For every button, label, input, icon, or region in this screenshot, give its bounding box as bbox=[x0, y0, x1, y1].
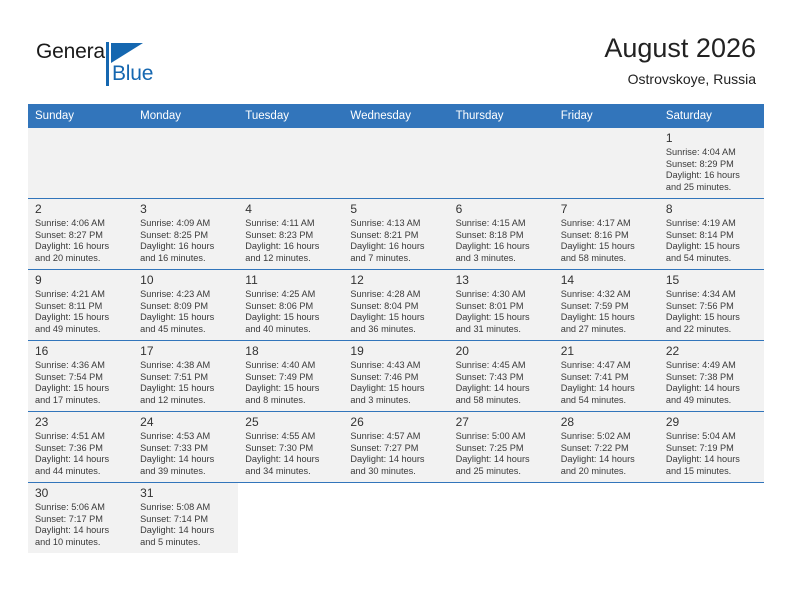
daylight-text-line1: Daylight: 15 hours bbox=[140, 383, 232, 395]
calendar-day-cell[interactable]: 30Sunrise: 5:06 AMSunset: 7:17 PMDayligh… bbox=[28, 483, 133, 554]
calendar-week-row: 30Sunrise: 5:06 AMSunset: 7:17 PMDayligh… bbox=[28, 483, 764, 554]
calendar-day-cell[interactable]: 3Sunrise: 4:09 AMSunset: 8:25 PMDaylight… bbox=[133, 199, 238, 270]
daylight-text-line2: and 10 minutes. bbox=[35, 537, 127, 549]
day-cell-inner: 10Sunrise: 4:23 AMSunset: 8:09 PMDayligh… bbox=[133, 270, 238, 340]
calendar-cell-empty bbox=[449, 483, 554, 554]
day-number: 19 bbox=[350, 344, 442, 359]
calendar-day-cell[interactable]: 18Sunrise: 4:40 AMSunset: 7:49 PMDayligh… bbox=[238, 341, 343, 412]
daylight-text-line1: Daylight: 15 hours bbox=[561, 312, 653, 324]
sunrise-text: Sunrise: 4:32 AM bbox=[561, 289, 653, 301]
page-title: August 2026 bbox=[336, 32, 756, 64]
daylight-text-line2: and 20 minutes. bbox=[35, 253, 127, 265]
sunrise-text: Sunrise: 4:17 AM bbox=[561, 218, 653, 230]
sunrise-text: Sunrise: 4:43 AM bbox=[350, 360, 442, 372]
day-number: 15 bbox=[666, 273, 758, 288]
sunset-text: Sunset: 7:33 PM bbox=[140, 443, 232, 455]
sunset-text: Sunset: 8:14 PM bbox=[666, 230, 758, 242]
calendar-week-row: 2Sunrise: 4:06 AMSunset: 8:27 PMDaylight… bbox=[28, 199, 764, 270]
weekday-header-tuesday: Tuesday bbox=[238, 104, 343, 128]
day-cell-inner: 26Sunrise: 4:57 AMSunset: 7:27 PMDayligh… bbox=[343, 412, 448, 482]
sunset-text: Sunset: 7:17 PM bbox=[35, 514, 127, 526]
calendar-cell-empty bbox=[133, 128, 238, 199]
day-number: 3 bbox=[140, 202, 232, 217]
daylight-text-line2: and 54 minutes. bbox=[561, 395, 653, 407]
calendar-cell-empty bbox=[659, 483, 764, 554]
day-cell-inner bbox=[449, 128, 554, 198]
day-cell-inner: 9Sunrise: 4:21 AMSunset: 8:11 PMDaylight… bbox=[28, 270, 133, 340]
day-number: 20 bbox=[456, 344, 548, 359]
calendar-cell-empty bbox=[343, 128, 448, 199]
daylight-text-line1: Daylight: 14 hours bbox=[35, 525, 127, 537]
daylight-text-line1: Daylight: 14 hours bbox=[35, 454, 127, 466]
sunrise-text: Sunrise: 4:11 AM bbox=[245, 218, 337, 230]
day-number: 8 bbox=[666, 202, 758, 217]
sunset-text: Sunset: 7:38 PM bbox=[666, 372, 758, 384]
sunset-text: Sunset: 7:19 PM bbox=[666, 443, 758, 455]
calendar-day-cell[interactable]: 28Sunrise: 5:02 AMSunset: 7:22 PMDayligh… bbox=[554, 412, 659, 483]
day-cell-inner: 15Sunrise: 4:34 AMSunset: 7:56 PMDayligh… bbox=[659, 270, 764, 340]
daylight-text-line2: and 39 minutes. bbox=[140, 466, 232, 478]
sunset-text: Sunset: 7:49 PM bbox=[245, 372, 337, 384]
calendar-week-row: 9Sunrise: 4:21 AMSunset: 8:11 PMDaylight… bbox=[28, 270, 764, 341]
day-cell-inner: 23Sunrise: 4:51 AMSunset: 7:36 PMDayligh… bbox=[28, 412, 133, 482]
sunrise-text: Sunrise: 5:04 AM bbox=[666, 431, 758, 443]
daylight-text-line1: Daylight: 15 hours bbox=[35, 383, 127, 395]
day-number: 24 bbox=[140, 415, 232, 430]
day-cell-inner: 17Sunrise: 4:38 AMSunset: 7:51 PMDayligh… bbox=[133, 341, 238, 411]
day-cell-inner bbox=[28, 128, 133, 198]
day-cell-inner: 30Sunrise: 5:06 AMSunset: 7:17 PMDayligh… bbox=[28, 483, 133, 553]
sunset-text: Sunset: 8:01 PM bbox=[456, 301, 548, 313]
daylight-text-line2: and 34 minutes. bbox=[245, 466, 337, 478]
day-cell-inner: 14Sunrise: 4:32 AMSunset: 7:59 PMDayligh… bbox=[554, 270, 659, 340]
calendar-week-row: 1Sunrise: 4:04 AMSunset: 8:29 PMDaylight… bbox=[28, 128, 764, 199]
sunrise-text: Sunrise: 5:06 AM bbox=[35, 502, 127, 514]
daylight-text-line1: Daylight: 14 hours bbox=[456, 383, 548, 395]
day-cell-inner: 4Sunrise: 4:11 AMSunset: 8:23 PMDaylight… bbox=[238, 199, 343, 269]
daylight-text-line2: and 8 minutes. bbox=[245, 395, 337, 407]
day-cell-inner: 6Sunrise: 4:15 AMSunset: 8:18 PMDaylight… bbox=[449, 199, 554, 269]
daylight-text-line1: Daylight: 14 hours bbox=[245, 454, 337, 466]
calendar-week-row: 23Sunrise: 4:51 AMSunset: 7:36 PMDayligh… bbox=[28, 412, 764, 483]
weekday-header-sunday: Sunday bbox=[28, 104, 133, 128]
daylight-text-line2: and 3 minutes. bbox=[456, 253, 548, 265]
sunrise-text: Sunrise: 4:34 AM bbox=[666, 289, 758, 301]
day-cell-inner: 18Sunrise: 4:40 AMSunset: 7:49 PMDayligh… bbox=[238, 341, 343, 411]
daylight-text-line2: and 44 minutes. bbox=[35, 466, 127, 478]
calendar-day-cell[interactable]: 23Sunrise: 4:51 AMSunset: 7:36 PMDayligh… bbox=[28, 412, 133, 483]
daylight-text-line2: and 58 minutes. bbox=[456, 395, 548, 407]
day-cell-inner bbox=[554, 128, 659, 198]
sunset-text: Sunset: 7:36 PM bbox=[35, 443, 127, 455]
daylight-text-line2: and 12 minutes. bbox=[245, 253, 337, 265]
daylight-text-line1: Daylight: 14 hours bbox=[666, 454, 758, 466]
day-cell-inner: 20Sunrise: 4:45 AMSunset: 7:43 PMDayligh… bbox=[449, 341, 554, 411]
weekday-header-monday: Monday bbox=[133, 104, 238, 128]
calendar-day-cell[interactable]: 13Sunrise: 4:30 AMSunset: 8:01 PMDayligh… bbox=[449, 270, 554, 341]
sunrise-text: Sunrise: 4:38 AM bbox=[140, 360, 232, 372]
sunrise-text: Sunrise: 4:21 AM bbox=[35, 289, 127, 301]
weekday-header-wednesday: Wednesday bbox=[343, 104, 448, 128]
calendar-cell-empty bbox=[238, 483, 343, 554]
day-number: 28 bbox=[561, 415, 653, 430]
day-cell-inner: 13Sunrise: 4:30 AMSunset: 8:01 PMDayligh… bbox=[449, 270, 554, 340]
calendar-day-cell[interactable]: 24Sunrise: 4:53 AMSunset: 7:33 PMDayligh… bbox=[133, 412, 238, 483]
sunset-text: Sunset: 7:56 PM bbox=[666, 301, 758, 313]
sunrise-text: Sunrise: 4:13 AM bbox=[350, 218, 442, 230]
day-cell-inner bbox=[449, 483, 554, 553]
daylight-text-line2: and 36 minutes. bbox=[350, 324, 442, 336]
day-number: 7 bbox=[561, 202, 653, 217]
sunset-text: Sunset: 7:14 PM bbox=[140, 514, 232, 526]
general-blue-logo: General Blue bbox=[36, 40, 166, 92]
daylight-text-line1: Daylight: 15 hours bbox=[350, 312, 442, 324]
day-cell-inner: 12Sunrise: 4:28 AMSunset: 8:04 PMDayligh… bbox=[343, 270, 448, 340]
logo-vertical-bar bbox=[106, 42, 109, 86]
calendar-day-cell[interactable]: 8Sunrise: 4:19 AMSunset: 8:14 PMDaylight… bbox=[659, 199, 764, 270]
calendar-day-cell[interactable]: 10Sunrise: 4:23 AMSunset: 8:09 PMDayligh… bbox=[133, 270, 238, 341]
daylight-text-line1: Daylight: 15 hours bbox=[350, 383, 442, 395]
day-number: 14 bbox=[561, 273, 653, 288]
daylight-text-line1: Daylight: 14 hours bbox=[666, 383, 758, 395]
sunrise-text: Sunrise: 4:28 AM bbox=[350, 289, 442, 301]
daylight-text-line1: Daylight: 15 hours bbox=[561, 241, 653, 253]
sunrise-text: Sunrise: 4:49 AM bbox=[666, 360, 758, 372]
sunrise-text: Sunrise: 4:40 AM bbox=[245, 360, 337, 372]
calendar-day-cell[interactable]: 14Sunrise: 4:32 AMSunset: 7:59 PMDayligh… bbox=[554, 270, 659, 341]
day-number: 12 bbox=[350, 273, 442, 288]
logo-flag-icon bbox=[111, 43, 143, 63]
sunrise-text: Sunrise: 5:02 AM bbox=[561, 431, 653, 443]
day-cell-inner: 31Sunrise: 5:08 AMSunset: 7:14 PMDayligh… bbox=[133, 483, 238, 553]
day-cell-inner: 2Sunrise: 4:06 AMSunset: 8:27 PMDaylight… bbox=[28, 199, 133, 269]
calendar-day-cell[interactable]: 27Sunrise: 5:00 AMSunset: 7:25 PMDayligh… bbox=[449, 412, 554, 483]
day-number: 16 bbox=[35, 344, 127, 359]
sunset-text: Sunset: 8:18 PM bbox=[456, 230, 548, 242]
day-number: 27 bbox=[456, 415, 548, 430]
calendar-day-cell[interactable]: 29Sunrise: 5:04 AMSunset: 7:19 PMDayligh… bbox=[659, 412, 764, 483]
calendar-day-cell[interactable]: 20Sunrise: 4:45 AMSunset: 7:43 PMDayligh… bbox=[449, 341, 554, 412]
calendar-day-cell[interactable]: 26Sunrise: 4:57 AMSunset: 7:27 PMDayligh… bbox=[343, 412, 448, 483]
sunset-text: Sunset: 8:23 PM bbox=[245, 230, 337, 242]
sunrise-text: Sunrise: 4:30 AM bbox=[456, 289, 548, 301]
sunset-text: Sunset: 7:22 PM bbox=[561, 443, 653, 455]
calendar-cell-empty bbox=[554, 483, 659, 554]
day-number: 26 bbox=[350, 415, 442, 430]
calendar-day-cell[interactable]: 25Sunrise: 4:55 AMSunset: 7:30 PMDayligh… bbox=[238, 412, 343, 483]
day-cell-inner: 16Sunrise: 4:36 AMSunset: 7:54 PMDayligh… bbox=[28, 341, 133, 411]
day-cell-inner bbox=[343, 483, 448, 553]
sunrise-text: Sunrise: 4:09 AM bbox=[140, 218, 232, 230]
daylight-text-line1: Daylight: 15 hours bbox=[35, 312, 127, 324]
sunset-text: Sunset: 7:30 PM bbox=[245, 443, 337, 455]
day-cell-inner: 11Sunrise: 4:25 AMSunset: 8:06 PMDayligh… bbox=[238, 270, 343, 340]
day-number: 22 bbox=[666, 344, 758, 359]
day-number: 30 bbox=[35, 486, 127, 501]
daylight-text-line2: and 58 minutes. bbox=[561, 253, 653, 265]
logo-text-general: General bbox=[36, 40, 109, 64]
day-number: 2 bbox=[35, 202, 127, 217]
daylight-text-line1: Daylight: 15 hours bbox=[245, 312, 337, 324]
daylight-text-line1: Daylight: 14 hours bbox=[456, 454, 548, 466]
sunrise-text: Sunrise: 4:53 AM bbox=[140, 431, 232, 443]
day-cell-inner bbox=[554, 483, 659, 553]
sunset-text: Sunset: 7:54 PM bbox=[35, 372, 127, 384]
sunrise-text: Sunrise: 4:36 AM bbox=[35, 360, 127, 372]
sunrise-text: Sunrise: 5:08 AM bbox=[140, 502, 232, 514]
daylight-text-line2: and 54 minutes. bbox=[666, 253, 758, 265]
sunrise-text: Sunrise: 4:04 AM bbox=[666, 147, 758, 159]
day-cell-inner: 24Sunrise: 4:53 AMSunset: 7:33 PMDayligh… bbox=[133, 412, 238, 482]
day-cell-inner: 19Sunrise: 4:43 AMSunset: 7:46 PMDayligh… bbox=[343, 341, 448, 411]
sunrise-text: Sunrise: 4:25 AM bbox=[245, 289, 337, 301]
sunset-text: Sunset: 7:46 PM bbox=[350, 372, 442, 384]
sunrise-text: Sunrise: 4:57 AM bbox=[350, 431, 442, 443]
daylight-text-line2: and 25 minutes. bbox=[456, 466, 548, 478]
day-cell-inner bbox=[659, 483, 764, 553]
sunset-text: Sunset: 7:27 PM bbox=[350, 443, 442, 455]
sunrise-text: Sunrise: 5:00 AM bbox=[456, 431, 548, 443]
sunrise-text: Sunrise: 4:06 AM bbox=[35, 218, 127, 230]
sunset-text: Sunset: 7:41 PM bbox=[561, 372, 653, 384]
day-number: 5 bbox=[350, 202, 442, 217]
daylight-text-line2: and 31 minutes. bbox=[456, 324, 548, 336]
day-cell-inner: 29Sunrise: 5:04 AMSunset: 7:19 PMDayligh… bbox=[659, 412, 764, 482]
sunset-text: Sunset: 8:29 PM bbox=[666, 159, 758, 171]
calendar-day-cell[interactable]: 5Sunrise: 4:13 AMSunset: 8:21 PMDaylight… bbox=[343, 199, 448, 270]
day-number: 1 bbox=[666, 131, 758, 146]
day-number: 9 bbox=[35, 273, 127, 288]
calendar-week-row: 16Sunrise: 4:36 AMSunset: 7:54 PMDayligh… bbox=[28, 341, 764, 412]
day-number: 21 bbox=[561, 344, 653, 359]
sunset-text: Sunset: 8:11 PM bbox=[35, 301, 127, 313]
calendar-day-cell[interactable]: 17Sunrise: 4:38 AMSunset: 7:51 PMDayligh… bbox=[133, 341, 238, 412]
daylight-text-line2: and 45 minutes. bbox=[140, 324, 232, 336]
daylight-text-line1: Daylight: 15 hours bbox=[140, 312, 232, 324]
sunrise-text: Sunrise: 4:19 AM bbox=[666, 218, 758, 230]
calendar-day-cell[interactable]: 2Sunrise: 4:06 AMSunset: 8:27 PMDaylight… bbox=[28, 199, 133, 270]
calendar-cell-empty bbox=[554, 128, 659, 199]
daylight-text-line2: and 15 minutes. bbox=[666, 466, 758, 478]
calendar-cell-empty bbox=[238, 128, 343, 199]
daylight-text-line1: Daylight: 16 hours bbox=[140, 241, 232, 253]
day-cell-inner: 25Sunrise: 4:55 AMSunset: 7:30 PMDayligh… bbox=[238, 412, 343, 482]
calendar-cell-empty bbox=[449, 128, 554, 199]
calendar-day-cell[interactable]: 16Sunrise: 4:36 AMSunset: 7:54 PMDayligh… bbox=[28, 341, 133, 412]
day-number: 4 bbox=[245, 202, 337, 217]
sunrise-text: Sunrise: 4:47 AM bbox=[561, 360, 653, 372]
day-number: 10 bbox=[140, 273, 232, 288]
daylight-text-line1: Daylight: 16 hours bbox=[245, 241, 337, 253]
calendar-day-cell[interactable]: 4Sunrise: 4:11 AMSunset: 8:23 PMDaylight… bbox=[238, 199, 343, 270]
daylight-text-line1: Daylight: 16 hours bbox=[456, 241, 548, 253]
day-cell-inner bbox=[133, 128, 238, 198]
calendar-day-cell[interactable]: 31Sunrise: 5:08 AMSunset: 7:14 PMDayligh… bbox=[133, 483, 238, 554]
page-header: General Blue August 2026 Ostrovskoye, Ru… bbox=[0, 0, 792, 104]
daylight-text-line1: Daylight: 15 hours bbox=[666, 312, 758, 324]
day-cell-inner: 28Sunrise: 5:02 AMSunset: 7:22 PMDayligh… bbox=[554, 412, 659, 482]
daylight-text-line1: Daylight: 15 hours bbox=[456, 312, 548, 324]
daylight-text-line2: and 12 minutes. bbox=[140, 395, 232, 407]
daylight-text-line1: Daylight: 14 hours bbox=[561, 454, 653, 466]
calendar-day-cell[interactable]: 12Sunrise: 4:28 AMSunset: 8:04 PMDayligh… bbox=[343, 270, 448, 341]
sunset-text: Sunset: 8:04 PM bbox=[350, 301, 442, 313]
sunset-text: Sunset: 8:09 PM bbox=[140, 301, 232, 313]
sunset-text: Sunset: 8:25 PM bbox=[140, 230, 232, 242]
daylight-text-line2: and 3 minutes. bbox=[350, 395, 442, 407]
weekday-header-saturday: Saturday bbox=[659, 104, 764, 128]
daylight-text-line1: Daylight: 14 hours bbox=[350, 454, 442, 466]
calendar-day-cell[interactable]: 21Sunrise: 4:47 AMSunset: 7:41 PMDayligh… bbox=[554, 341, 659, 412]
calendar-day-cell[interactable]: 1Sunrise: 4:04 AMSunset: 8:29 PMDaylight… bbox=[659, 128, 764, 199]
daylight-text-line2: and 49 minutes. bbox=[35, 324, 127, 336]
title-block: August 2026 Ostrovskoye, Russia bbox=[336, 32, 756, 89]
sunset-text: Sunset: 8:27 PM bbox=[35, 230, 127, 242]
day-number: 17 bbox=[140, 344, 232, 359]
page-subtitle: Ostrovskoye, Russia bbox=[336, 69, 756, 89]
calendar-day-cell[interactable]: 19Sunrise: 4:43 AMSunset: 7:46 PMDayligh… bbox=[343, 341, 448, 412]
day-number: 29 bbox=[666, 415, 758, 430]
daylight-text-line2: and 30 minutes. bbox=[350, 466, 442, 478]
daylight-text-line1: Daylight: 14 hours bbox=[140, 454, 232, 466]
daylight-text-line2: and 27 minutes. bbox=[561, 324, 653, 336]
weekday-header-thursday: Thursday bbox=[449, 104, 554, 128]
day-number: 31 bbox=[140, 486, 232, 501]
calendar-cell-empty bbox=[28, 128, 133, 199]
calendar-day-cell[interactable]: 6Sunrise: 4:15 AMSunset: 8:18 PMDaylight… bbox=[449, 199, 554, 270]
sunset-text: Sunset: 7:25 PM bbox=[456, 443, 548, 455]
day-cell-inner: 8Sunrise: 4:19 AMSunset: 8:14 PMDaylight… bbox=[659, 199, 764, 269]
day-cell-inner: 5Sunrise: 4:13 AMSunset: 8:21 PMDaylight… bbox=[343, 199, 448, 269]
sunrise-text: Sunrise: 4:15 AM bbox=[456, 218, 548, 230]
daylight-text-line1: Daylight: 14 hours bbox=[140, 525, 232, 537]
daylight-text-line1: Daylight: 16 hours bbox=[350, 241, 442, 253]
daylight-text-line1: Daylight: 15 hours bbox=[666, 241, 758, 253]
daylight-text-line1: Daylight: 16 hours bbox=[35, 241, 127, 253]
daylight-text-line2: and 49 minutes. bbox=[666, 395, 758, 407]
sunset-text: Sunset: 7:59 PM bbox=[561, 301, 653, 313]
day-number: 18 bbox=[245, 344, 337, 359]
weekday-header-friday: Friday bbox=[554, 104, 659, 128]
calendar-cell-empty bbox=[343, 483, 448, 554]
calendar-header-row: Sunday Monday Tuesday Wednesday Thursday… bbox=[28, 104, 764, 128]
sunset-text: Sunset: 8:06 PM bbox=[245, 301, 337, 313]
day-cell-inner: 3Sunrise: 4:09 AMSunset: 8:25 PMDaylight… bbox=[133, 199, 238, 269]
day-cell-inner bbox=[238, 128, 343, 198]
sunrise-text: Sunrise: 4:23 AM bbox=[140, 289, 232, 301]
calendar-day-cell[interactable]: 9Sunrise: 4:21 AMSunset: 8:11 PMDaylight… bbox=[28, 270, 133, 341]
day-number: 6 bbox=[456, 202, 548, 217]
sunrise-sunset-calendar: Sunday Monday Tuesday Wednesday Thursday… bbox=[28, 104, 764, 553]
sunrise-text: Sunrise: 4:55 AM bbox=[245, 431, 337, 443]
sunset-text: Sunset: 7:51 PM bbox=[140, 372, 232, 384]
day-number: 13 bbox=[456, 273, 548, 288]
sunrise-text: Sunrise: 4:51 AM bbox=[35, 431, 127, 443]
day-cell-inner: 7Sunrise: 4:17 AMSunset: 8:16 PMDaylight… bbox=[554, 199, 659, 269]
day-number: 25 bbox=[245, 415, 337, 430]
daylight-text-line1: Daylight: 16 hours bbox=[666, 170, 758, 182]
day-number: 11 bbox=[245, 273, 337, 288]
day-number: 23 bbox=[35, 415, 127, 430]
daylight-text-line2: and 40 minutes. bbox=[245, 324, 337, 336]
sunrise-text: Sunrise: 4:45 AM bbox=[456, 360, 548, 372]
daylight-text-line2: and 16 minutes. bbox=[140, 253, 232, 265]
daylight-text-line2: and 25 minutes. bbox=[666, 182, 758, 194]
daylight-text-line1: Daylight: 14 hours bbox=[561, 383, 653, 395]
sunset-text: Sunset: 7:43 PM bbox=[456, 372, 548, 384]
calendar-day-cell[interactable]: 22Sunrise: 4:49 AMSunset: 7:38 PMDayligh… bbox=[659, 341, 764, 412]
day-cell-inner bbox=[238, 483, 343, 553]
day-cell-inner: 22Sunrise: 4:49 AMSunset: 7:38 PMDayligh… bbox=[659, 341, 764, 411]
calendar-day-cell[interactable]: 11Sunrise: 4:25 AMSunset: 8:06 PMDayligh… bbox=[238, 270, 343, 341]
day-cell-inner bbox=[343, 128, 448, 198]
day-cell-inner: 27Sunrise: 5:00 AMSunset: 7:25 PMDayligh… bbox=[449, 412, 554, 482]
daylight-text-line2: and 22 minutes. bbox=[666, 324, 758, 336]
daylight-text-line2: and 5 minutes. bbox=[140, 537, 232, 549]
calendar-day-cell[interactable]: 7Sunrise: 4:17 AMSunset: 8:16 PMDaylight… bbox=[554, 199, 659, 270]
daylight-text-line2: and 20 minutes. bbox=[561, 466, 653, 478]
daylight-text-line1: Daylight: 15 hours bbox=[245, 383, 337, 395]
sunset-text: Sunset: 8:16 PM bbox=[561, 230, 653, 242]
daylight-text-line2: and 17 minutes. bbox=[35, 395, 127, 407]
day-cell-inner: 1Sunrise: 4:04 AMSunset: 8:29 PMDaylight… bbox=[659, 128, 764, 198]
calendar-day-cell[interactable]: 15Sunrise: 4:34 AMSunset: 7:56 PMDayligh… bbox=[659, 270, 764, 341]
sunset-text: Sunset: 8:21 PM bbox=[350, 230, 442, 242]
calendar-body: 1Sunrise: 4:04 AMSunset: 8:29 PMDaylight… bbox=[28, 128, 764, 553]
daylight-text-line2: and 7 minutes. bbox=[350, 253, 442, 265]
logo-text-blue: Blue bbox=[112, 62, 153, 86]
day-cell-inner: 21Sunrise: 4:47 AMSunset: 7:41 PMDayligh… bbox=[554, 341, 659, 411]
